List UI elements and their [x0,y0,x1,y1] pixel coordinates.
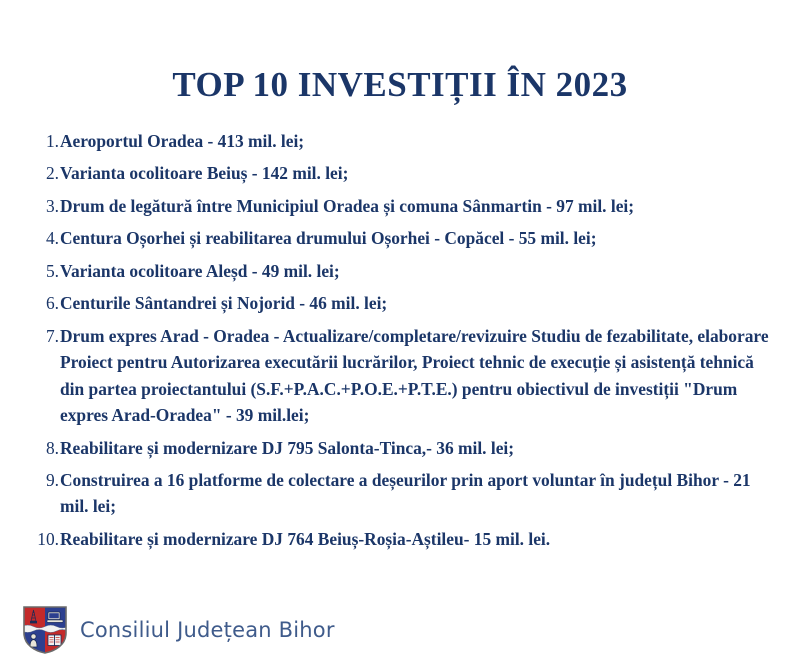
list-item-number: 1. [30,128,60,154]
list-item: 9. Construirea a 16 platforme de colecta… [30,467,778,520]
list-item-number: 4. [30,225,60,251]
list-item: 4. Centura Oșorhei și reabilitarea drumu… [30,225,778,251]
list-item-text: Drum de legătură între Municipiul Oradea… [60,193,778,219]
list-item-text: Drum expres Arad - Oradea - Actualizare/… [60,323,778,429]
list-item-text: Construirea a 16 platforme de colectare … [60,467,778,520]
list-item: 7. Drum expres Arad - Oradea - Actualiza… [30,323,778,429]
list-item-text: Reabilitare și modernizare DJ 795 Salont… [60,435,778,461]
list-item: 10. Reabilitare și modernizare DJ 764 Be… [30,526,778,552]
list-item-number: 2. [30,160,60,186]
list-item-number: 6. [30,290,60,316]
list-item-text: Aeroportul Oradea - 413 mil. lei; [60,128,778,154]
list-item-text: Centura Oșorhei și reabilitarea drumului… [60,225,778,251]
list-item-text: Varianta ocolitoare Beiuș - 142 mil. lei… [60,160,778,186]
list-item: 6. Centurile Sântandrei și Nojorid - 46 … [30,290,778,316]
list-item-text: Varianta ocolitoare Aleșd - 49 mil. lei; [60,258,778,284]
list-item-number: 9. [30,467,60,493]
list-item: 3. Drum de legătură între Municipiul Ora… [30,193,778,219]
list-item-text: Centurile Sântandrei și Nojorid - 46 mil… [60,290,778,316]
list-item-number: 3. [30,193,60,219]
list-item-number: 7. [30,323,60,349]
footer-logo: Consiliul Județean Bihor [22,605,335,655]
bihor-county-coat-of-arms-shield-icon [22,605,68,655]
organization-name: Consiliul Județean Bihor [80,618,335,642]
list-item-number: 8. [30,435,60,461]
list-item: 5. Varianta ocolitoare Aleșd - 49 mil. l… [30,258,778,284]
list-item: 8. Reabilitare și modernizare DJ 795 Sal… [30,435,778,461]
list-item: 2. Varianta ocolitoare Beiuș - 142 mil. … [30,160,778,186]
list-item-number: 5. [30,258,60,284]
investments-list: 1. Aeroportul Oradea - 413 mil. lei; 2. … [30,128,778,558]
list-item-number: 10. [30,526,60,552]
page-title: TOP 10 INVESTIȚII ÎN 2023 [0,0,800,105]
list-item: 1. Aeroportul Oradea - 413 mil. lei; [30,128,778,154]
slide-root: TOP 10 INVESTIȚII ÎN 2023 1. Aeroportul … [0,0,800,671]
list-item-text: Reabilitare și modernizare DJ 764 Beiuș-… [60,526,778,552]
